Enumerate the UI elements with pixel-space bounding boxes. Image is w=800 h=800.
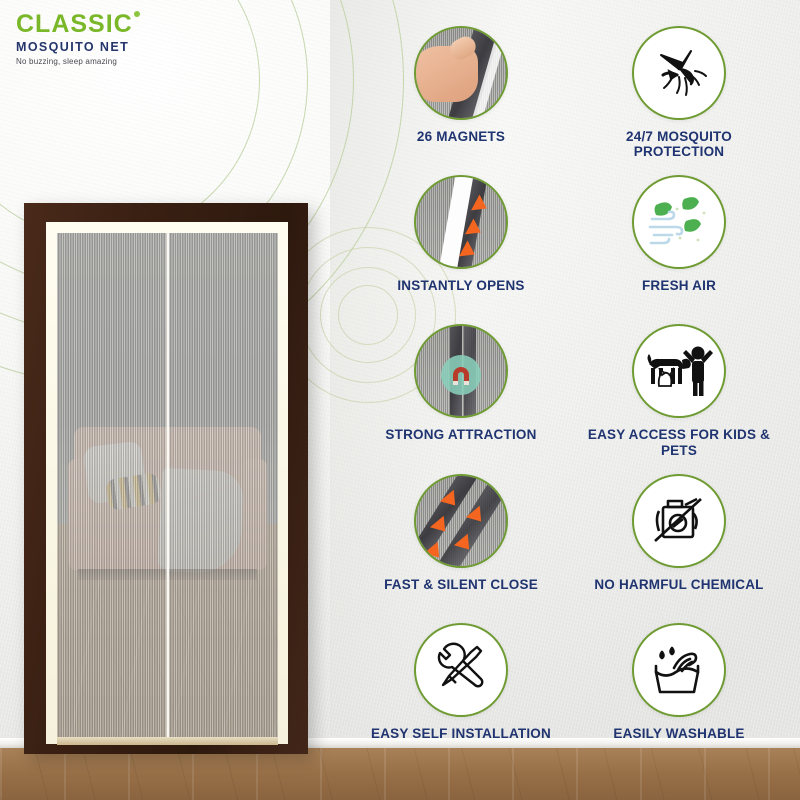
door-threshold (57, 737, 278, 745)
product-photo-door (24, 203, 308, 754)
feature-label: STRONG ATTRACTION (385, 427, 536, 442)
brand-name: CLASSIC (16, 12, 133, 37)
feature-grid: 26 MAGNETS 24/7 MOSQUIT (352, 22, 788, 768)
mesh-panel-right (168, 233, 279, 744)
feature-label: EASY ACCESS FOR KIDS & PETS (579, 427, 779, 458)
magnet-icon (441, 355, 481, 395)
feature-label: 24/7 MOSQUITO PROTECTION (579, 129, 779, 160)
feature-easy-access: EASY ACCESS FOR KIDS & PETS (570, 320, 788, 469)
logo-dot-icon (134, 11, 140, 17)
feature-strong-attraction: STRONG ATTRACTION (352, 320, 570, 469)
feature-instantly-opens: INSTANTLY OPENS (352, 171, 570, 320)
feature-no-harmful-chemical: NO HARMFUL CHEMICAL (570, 470, 788, 619)
feature-label: EASILY WASHABLE (613, 726, 744, 741)
feature-label: 26 MAGNETS (417, 129, 505, 144)
feature-easily-washable: EASILY WASHABLE (570, 619, 788, 768)
hand-wash-basin-icon (632, 623, 726, 717)
no-pesticide-sprayer-icon (632, 474, 726, 568)
mesh-center-seam (166, 233, 169, 744)
feature-label: FAST & SILENT CLOSE (384, 577, 538, 592)
magnet-attraction-photo-icon (414, 324, 508, 418)
door-inner-frame (46, 222, 288, 744)
feature-label: EASY SELF INSTALLATION (371, 726, 551, 741)
feature-fast-silent-close: FAST & SILENT CLOSE (352, 470, 570, 619)
brand-logo: CLASSIC MOSQUITO NET No buzzing, sleep a… (16, 12, 133, 66)
brand-product-line: MOSQUITO NET (16, 40, 133, 54)
mesh-opening-arrows-photo-icon (414, 175, 508, 269)
mesh-panel-left (57, 233, 168, 744)
feature-label: FRESH AIR (642, 278, 716, 293)
feature-label: NO HARMFUL CHEMICAL (594, 577, 763, 592)
hand-holding-magnet-strip-photo-icon (414, 26, 508, 120)
feature-26-magnets: 26 MAGNETS (352, 22, 570, 171)
mosquito-icon (632, 26, 726, 120)
feature-easy-self-installation: EASY SELF INSTALLATION (352, 619, 570, 768)
door-opening (57, 233, 278, 744)
feature-mosquito-protection: 24/7 MOSQUITO PROTECTION (570, 22, 788, 171)
mesh-closing-arrows-photo-icon (414, 474, 508, 568)
feature-fresh-air: FRESH AIR (570, 171, 788, 320)
kids-and-pets-icon (632, 324, 726, 418)
feature-label: INSTANTLY OPENS (397, 278, 524, 293)
wrench-screwdriver-icon (414, 623, 508, 717)
leaves-wind-icon (632, 175, 726, 269)
brand-tagline: No buzzing, sleep amazing (16, 57, 133, 66)
